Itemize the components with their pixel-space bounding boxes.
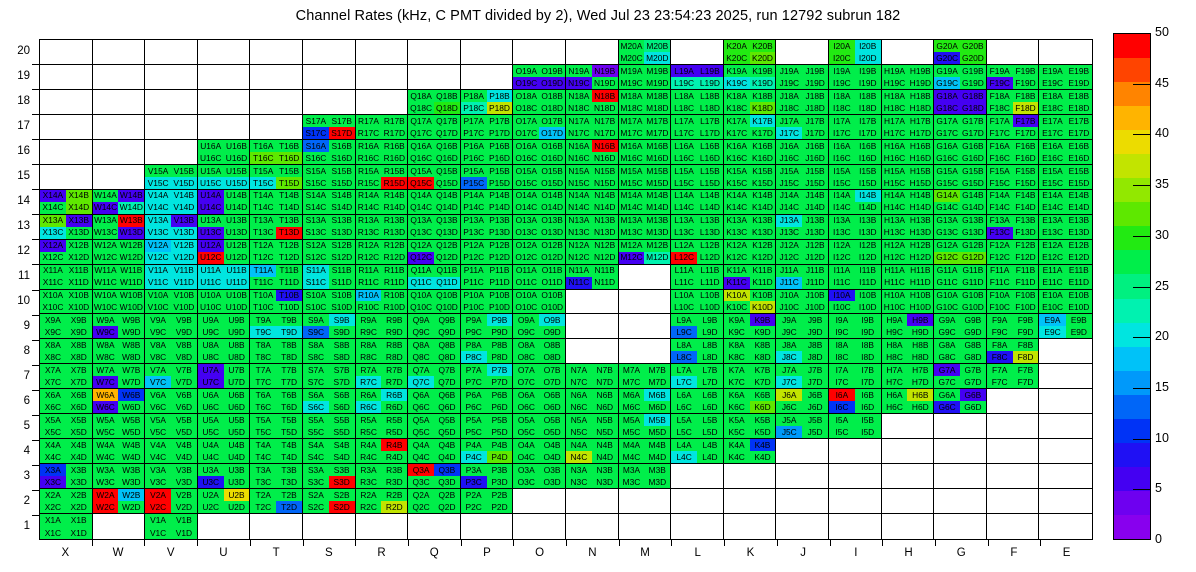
- channel-V15D: V15D: [171, 177, 197, 189]
- channel-K14C: K14C: [724, 202, 750, 214]
- module-cell-E14: E14AE14BE14CE14D: [1039, 190, 1092, 215]
- channel-R10C: R10C: [356, 301, 382, 313]
- module-cell-P6: P6AP6BP6CP6D: [461, 389, 514, 414]
- channel-G2C: [934, 501, 960, 513]
- channel-H19C: H19C: [882, 77, 908, 89]
- channel-S11B: S11B: [329, 265, 355, 277]
- channel-M3D: M3D: [644, 476, 670, 488]
- channel-F19A: F19A: [987, 65, 1013, 77]
- channel-H15C: H15C: [882, 177, 908, 189]
- channel-G9D: G9D: [960, 326, 986, 338]
- channel-P7A: P7A: [461, 364, 487, 376]
- channel-N10B: [592, 290, 618, 302]
- module-cell-N11: N11AN11BN11CN11D: [566, 265, 619, 290]
- channel-G5A: [934, 414, 960, 426]
- channel-P16C: P16C: [461, 152, 487, 164]
- channel-H20B: [907, 40, 933, 52]
- module-cell-W8: W8AW8BW8CW8D: [93, 339, 146, 364]
- channel-H4A: [882, 439, 908, 451]
- channel-S10C: S10C: [303, 301, 329, 313]
- channel-S1C: [303, 527, 329, 539]
- channel-K19C: K19C: [724, 77, 750, 89]
- channel-I11D: I11D: [855, 277, 881, 289]
- module-cell-S4: S4AS4BS4CS4D: [303, 439, 356, 464]
- channel-M16D: M16D: [644, 152, 670, 164]
- channel-J7D: J7D: [802, 376, 828, 388]
- module-cell-P7: P7AP7BP7CP7D: [461, 364, 514, 389]
- channel-I3A: [829, 464, 855, 476]
- channel-M4C: M4C: [619, 451, 645, 463]
- channel-I15D: I15D: [855, 177, 881, 189]
- channel-T9D: T9D: [276, 326, 302, 338]
- channel-O14D: O14D: [539, 202, 565, 214]
- module-cell-P11: P11AP11BP11CP11D: [461, 265, 514, 290]
- channel-R17D: R17D: [381, 127, 407, 139]
- channel-O19D: O19D: [539, 77, 565, 89]
- module-cell-W10: W10AW10BW10CW10D: [93, 290, 146, 315]
- channel-F4C: [987, 451, 1013, 463]
- module-cell-M5: M5AM5BM5CM5D: [619, 414, 672, 439]
- channel-X3D: X3D: [66, 476, 92, 488]
- channel-X11A: X11A: [40, 265, 66, 277]
- channel-G14D: G14D: [960, 202, 986, 214]
- channel-J14B: J14B: [802, 190, 828, 202]
- channel-R16A: R16A: [356, 140, 382, 152]
- channel-O20A: [513, 40, 539, 52]
- channel-G20B: G20B: [960, 40, 986, 52]
- channel-X14A: X14A: [40, 190, 66, 202]
- channel-X9C: X9C: [40, 326, 66, 338]
- module-cell-J15: J15AJ15BJ15CJ15D: [776, 165, 829, 190]
- channel-O5A: O5A: [513, 414, 539, 426]
- channel-R13A: R13A: [356, 215, 382, 227]
- channel-E9A: E9A: [1039, 314, 1065, 326]
- channel-L8A: L8A: [671, 339, 697, 351]
- colorbar-segment: [1114, 226, 1150, 250]
- module-cell-J14: J14AJ14BJ14CJ14D: [776, 190, 829, 215]
- module-cell-N3: N3AN3BN3CN3D: [566, 464, 619, 489]
- channel-K9D: K9D: [750, 326, 776, 338]
- channel-G11C: G11C: [934, 277, 960, 289]
- channel-R7B: R7B: [381, 364, 407, 376]
- channel-S11D: S11D: [329, 277, 355, 289]
- channel-F12D: F12D: [1013, 252, 1039, 264]
- module-cell-R14: R14AR14BR14CR14D: [356, 190, 409, 215]
- channel-J11B: J11B: [802, 265, 828, 277]
- channel-W4D: W4D: [118, 451, 144, 463]
- channel-R19C: [356, 77, 382, 89]
- channel-S2C: S2C: [303, 501, 329, 513]
- channel-Q18C: Q18C: [408, 102, 434, 114]
- channel-N13C: N13C: [566, 227, 592, 239]
- channel-L14C: L14C: [671, 202, 697, 214]
- channel-L15C: L15C: [671, 177, 697, 189]
- channel-F18D: F18D: [1013, 102, 1039, 114]
- channel-L10D: L10D: [697, 301, 723, 313]
- channel-E14A: E14A: [1039, 190, 1065, 202]
- module-cell-I19: I19AI19BI19CI19D: [829, 65, 882, 90]
- channel-U2A: U2A: [198, 489, 224, 501]
- channel-H16D: H16D: [907, 152, 933, 164]
- channel-W2D: W2D: [118, 501, 144, 513]
- channel-H12B: H12B: [907, 240, 933, 252]
- channel-J10D: J10D: [802, 301, 828, 313]
- channel-K6D: K6D: [750, 401, 776, 413]
- channel-H8A: H8A: [882, 339, 908, 351]
- channel-V16D: [171, 152, 197, 164]
- channel-G16B: G16B: [960, 140, 986, 152]
- channel-T20D: [276, 52, 302, 64]
- module-cell-V14: V14AV14BV14CV14D: [145, 190, 198, 215]
- channel-K7A: K7A: [724, 364, 750, 376]
- channel-M17A: M17A: [619, 115, 645, 127]
- channel-V6C: V6C: [145, 401, 171, 413]
- channel-J8D: J8D: [802, 351, 828, 363]
- channel-K5D: K5D: [750, 426, 776, 438]
- module-cell-W11: W11AW11BW11CW11D: [93, 265, 146, 290]
- channel-U4A: U4A: [198, 439, 224, 451]
- module-cell-J10: J10AJ10BJ10CJ10D: [776, 290, 829, 315]
- channel-U2D: U2D: [224, 501, 250, 513]
- channel-U9B: U9B: [224, 314, 250, 326]
- channel-G12C: G12C: [934, 252, 960, 264]
- channel-V19A: [145, 65, 171, 77]
- channel-M4B: M4B: [644, 439, 670, 451]
- channel-Q2B: Q2B: [434, 489, 460, 501]
- channel-Q8B: Q8B: [434, 339, 460, 351]
- channel-G18C: G18C: [934, 102, 960, 114]
- module-cell-K11: K11AK11BK11CK11D: [724, 265, 777, 290]
- channel-L4A: L4A: [671, 439, 697, 451]
- module-cell-P12: P12AP12BP12CP12D: [461, 240, 514, 265]
- channel-W4B: W4B: [118, 439, 144, 451]
- module-cell-T1: [250, 514, 303, 539]
- channel-K3C: [724, 476, 750, 488]
- channel-S17D: S17D: [329, 127, 355, 139]
- channel-J8C: J8C: [776, 351, 802, 363]
- module-cell-P19: [461, 65, 514, 90]
- channel-W17C: [93, 127, 119, 139]
- channel-U10C: U10C: [198, 301, 224, 313]
- channel-Q12B: Q12B: [434, 240, 460, 252]
- module-cell-F18: F18AF18BF18CF18D: [987, 90, 1040, 115]
- channel-F9D: F9D: [1013, 326, 1039, 338]
- channel-T7D: T7D: [276, 376, 302, 388]
- channel-F15D: F15D: [1013, 177, 1039, 189]
- module-cell-J2: [776, 489, 829, 514]
- module-cell-M9: [619, 314, 672, 339]
- channel-N3D: N3D: [592, 476, 618, 488]
- channel-X15A: [40, 165, 66, 177]
- channel-F18B: F18B: [1013, 90, 1039, 102]
- channel-T14C: T14C: [250, 202, 276, 214]
- channel-H14C: H14C: [882, 202, 908, 214]
- channel-H19A: H19A: [882, 65, 908, 77]
- channel-N4B: N4B: [592, 439, 618, 451]
- channel-U14D: U14D: [224, 202, 250, 214]
- channel-U7A: U7A: [198, 364, 224, 376]
- module-cell-V11: V11AV11BV11CV11D: [145, 265, 198, 290]
- channel-K3B: [750, 464, 776, 476]
- channel-M6C: M6C: [619, 401, 645, 413]
- channel-L16C: L16C: [671, 152, 697, 164]
- channel-O1A: [513, 514, 539, 526]
- channel-H13B: H13B: [907, 215, 933, 227]
- module-cell-I5: I5AI5BI5CI5D: [829, 414, 882, 439]
- channel-G15C: G15C: [934, 177, 960, 189]
- module-cell-J17: J17AJ17BJ17CJ17D: [776, 115, 829, 140]
- channel-H3B: [907, 464, 933, 476]
- channel-T13A: T13A: [250, 215, 276, 227]
- channel-M3A: M3A: [619, 464, 645, 476]
- channel-P15D: P15D: [487, 177, 513, 189]
- channel-S15D: S15D: [329, 177, 355, 189]
- channel-Q17D: Q17D: [434, 127, 460, 139]
- colorbar-tick: [1133, 388, 1151, 389]
- channel-H8B: H8B: [907, 339, 933, 351]
- module-cell-E18: E18AE18BE18CE18D: [1039, 90, 1092, 115]
- channel-K19B: K19B: [750, 65, 776, 77]
- module-cell-L9: L9AL9BL9CL9D: [671, 314, 724, 339]
- module-cell-S2: S2AS2BS2CS2D: [303, 489, 356, 514]
- module-cell-M12: M12AM12BM12CM12D: [619, 240, 672, 265]
- channel-H19D: H19D: [907, 77, 933, 89]
- channel-K6B: K6B: [750, 389, 776, 401]
- channel-S2A: S2A: [303, 489, 329, 501]
- module-cell-P15: P15AP15BP15CP15D: [461, 165, 514, 190]
- channel-T3D: T3D: [276, 476, 302, 488]
- module-cell-H8: H8AH8BH8CH8D: [882, 339, 935, 364]
- channel-O4D: O4D: [539, 451, 565, 463]
- module-cell-L20: [671, 40, 724, 65]
- channel-W15D: [118, 177, 144, 189]
- channel-W9C: W9C: [93, 326, 119, 338]
- channel-R3A: R3A: [356, 464, 382, 476]
- channel-L3B: [697, 464, 723, 476]
- x-axis-label-J: J: [777, 547, 830, 559]
- channel-F4D: [1013, 451, 1039, 463]
- channel-X6A: X6A: [40, 389, 66, 401]
- channel-S7D: S7D: [329, 376, 355, 388]
- channel-N8A: [566, 339, 592, 351]
- channel-R2B: R2B: [381, 489, 407, 501]
- x-axis-tick: [144, 540, 145, 546]
- channel-I1B: [855, 514, 881, 526]
- channel-V18D: [171, 102, 197, 114]
- channel-K5C: K5C: [724, 426, 750, 438]
- channel-O3A: O3A: [513, 464, 539, 476]
- channel-P11A: P11A: [461, 265, 487, 277]
- channel-K17D: K17D: [750, 127, 776, 139]
- channel-E12D: E12D: [1066, 252, 1092, 264]
- channel-Q6D: Q6D: [434, 401, 460, 413]
- channel-O9A: O9A: [513, 314, 539, 326]
- channel-E9D: E9D: [1066, 326, 1092, 338]
- channel-J9C: J9C: [776, 326, 802, 338]
- x-axis-tick: [1040, 540, 1041, 546]
- channel-U12A: U12A: [198, 240, 224, 252]
- channel-V18A: [145, 90, 171, 102]
- module-cell-T15: T15AT15BT15CT15D: [250, 165, 303, 190]
- module-cell-R8: R8AR8BR8CR8D: [356, 339, 409, 364]
- channel-S7C: S7C: [303, 376, 329, 388]
- channel-R3C: R3C: [356, 476, 382, 488]
- channel-K17C: K17C: [724, 127, 750, 139]
- channel-J15C: J15C: [776, 177, 802, 189]
- channel-W5C: W5C: [93, 426, 119, 438]
- channel-R13B: R13B: [381, 215, 407, 227]
- channel-O15D: O15D: [539, 177, 565, 189]
- channel-L18D: L18D: [697, 102, 723, 114]
- channel-W16C: [93, 152, 119, 164]
- channel-G11D: G11D: [960, 277, 986, 289]
- channel-S6A: S6A: [303, 389, 329, 401]
- channel-M7B: M7B: [644, 364, 670, 376]
- channel-Q20A: [408, 40, 434, 52]
- channel-E18D: E18D: [1066, 102, 1092, 114]
- channel-X3C: X3C: [40, 476, 66, 488]
- channel-E2D: [1066, 501, 1092, 513]
- channel-I6A: I6A: [829, 389, 855, 401]
- channel-I16C: I16C: [829, 152, 855, 164]
- channel-T16A: T16A: [250, 140, 276, 152]
- channel-Q20B: [434, 40, 460, 52]
- channel-H8C: H8C: [882, 351, 908, 363]
- channel-P19B: [487, 65, 513, 77]
- channel-Q11A: Q11A: [408, 265, 434, 277]
- module-cell-G9: G9AG9BG9CG9D: [934, 314, 987, 339]
- channel-H3C: [882, 476, 908, 488]
- channel-P13D: P13D: [487, 227, 513, 239]
- channel-J5C: J5C: [776, 426, 802, 438]
- channel-X11B: X11B: [66, 265, 92, 277]
- x-axis-label-F: F: [988, 547, 1041, 559]
- colorbar-segment: [1114, 347, 1150, 371]
- module-cell-E15: E15AE15BE15CE15D: [1039, 165, 1092, 190]
- channel-M13B: M13B: [644, 215, 670, 227]
- channel-X13C: X13C: [40, 227, 66, 239]
- channel-F13D: F13D: [1013, 227, 1039, 239]
- module-cell-V3: V3AV3BV3CV3D: [145, 464, 198, 489]
- module-cell-H10: H10AH10BH10CH10D: [882, 290, 935, 315]
- channel-G7B: G7B: [960, 364, 986, 376]
- module-cell-E3: [1039, 464, 1092, 489]
- channel-W2A: W2A: [93, 489, 119, 501]
- channel-K1D: [750, 527, 776, 539]
- module-cell-U17: [198, 115, 251, 140]
- channel-W13B: W13B: [118, 215, 144, 227]
- channel-J3C: [776, 476, 802, 488]
- module-cell-X5: X5AX5BX5CX5D: [40, 414, 93, 439]
- channel-K14B: K14B: [750, 190, 776, 202]
- channel-X7C: X7C: [40, 376, 66, 388]
- channel-H10A: H10A: [882, 290, 908, 302]
- channel-T3A: T3A: [250, 464, 276, 476]
- channel-J4D: [802, 451, 828, 463]
- channel-R10D: R10D: [381, 301, 407, 313]
- channel-Q16B: Q16B: [434, 140, 460, 152]
- channel-U6B: U6B: [224, 389, 250, 401]
- x-axis-label-E: E: [1040, 547, 1093, 559]
- channel-L18C: L18C: [671, 102, 697, 114]
- channel-T4C: T4C: [250, 451, 276, 463]
- module-cell-S6: S6AS6BS6CS6D: [303, 389, 356, 414]
- module-cell-V5: V5AV5BV5CV5D: [145, 414, 198, 439]
- channel-I9B: I9B: [855, 314, 881, 326]
- channel-P6C: P6C: [461, 401, 487, 413]
- channel-W19C: [93, 77, 119, 89]
- channel-K8C: K8C: [724, 351, 750, 363]
- channel-G8B: G8B: [960, 339, 986, 351]
- colorbar-segment: [1114, 106, 1150, 130]
- module-cell-G20: G20AG20BG20CG20D: [934, 40, 987, 65]
- channel-K11D: K11D: [750, 277, 776, 289]
- channel-X2D: X2D: [66, 501, 92, 513]
- module-cell-S8: S8AS8BS8CS8D: [303, 339, 356, 364]
- channel-S6C: S6C: [303, 401, 329, 413]
- channel-I7B: I7B: [855, 364, 881, 376]
- channel-I4B: [855, 439, 881, 451]
- channel-S20A: [303, 40, 329, 52]
- channel-U15D: U15D: [224, 177, 250, 189]
- channel-O3D: O3D: [539, 476, 565, 488]
- y-axis-tick: [32, 340, 39, 341]
- channel-N9B: [592, 314, 618, 326]
- colorbar-segment: [1114, 443, 1150, 467]
- module-cell-G16: G16AG16BG16CG16D: [934, 140, 987, 165]
- channel-M3B: M3B: [644, 464, 670, 476]
- module-cell-J4: [776, 439, 829, 464]
- channel-O9B: O9B: [539, 314, 565, 326]
- module-cell-O13: O13AO13BO13CO13D: [513, 215, 566, 240]
- channel-J6A: J6A: [776, 389, 802, 401]
- module-cell-O15: O15AO15BO15CO15D: [513, 165, 566, 190]
- channel-T14D: T14D: [276, 202, 302, 214]
- module-cell-F9: F9AF9BF9CF9D: [987, 314, 1040, 339]
- channel-G3A: [934, 464, 960, 476]
- module-cell-U11: U11AU11BU11CU11D: [198, 265, 251, 290]
- channel-P3A: P3A: [461, 464, 487, 476]
- x-axis-tick: [461, 540, 462, 546]
- channel-E7D: [1066, 376, 1092, 388]
- module-cell-T18: [250, 90, 303, 115]
- module-cell-S10: S10AS10BS10CS10D: [303, 290, 356, 315]
- module-cell-M19: M19AM19BM19CM19D: [619, 65, 672, 90]
- channel-I12A: I12A: [829, 240, 855, 252]
- channel-E17C: E17C: [1039, 127, 1065, 139]
- channel-G15A: G15A: [934, 165, 960, 177]
- channel-H6D: H6D: [907, 401, 933, 413]
- y-axis-tick: [32, 440, 39, 441]
- channel-I8B: I8B: [855, 339, 881, 351]
- channel-R5D: R5D: [381, 426, 407, 438]
- channel-M19C: M19C: [619, 77, 645, 89]
- channel-N2B: [592, 489, 618, 501]
- channel-I17C: I17C: [829, 127, 855, 139]
- channel-V18B: [171, 90, 197, 102]
- channel-G20A: G20A: [934, 40, 960, 52]
- module-cell-E4: [1039, 439, 1092, 464]
- channel-Q7B: Q7B: [434, 364, 460, 376]
- y-axis-tick: [32, 139, 39, 140]
- channel-R6B: R6B: [381, 389, 407, 401]
- module-cell-G6: G6AG6BG6CG6D: [934, 389, 987, 414]
- channel-K13B: K13B: [750, 215, 776, 227]
- channel-H17A: H17A: [882, 115, 908, 127]
- channel-F18C: F18C: [987, 102, 1013, 114]
- channel-J1A: [776, 514, 802, 526]
- channel-J8A: J8A: [776, 339, 802, 351]
